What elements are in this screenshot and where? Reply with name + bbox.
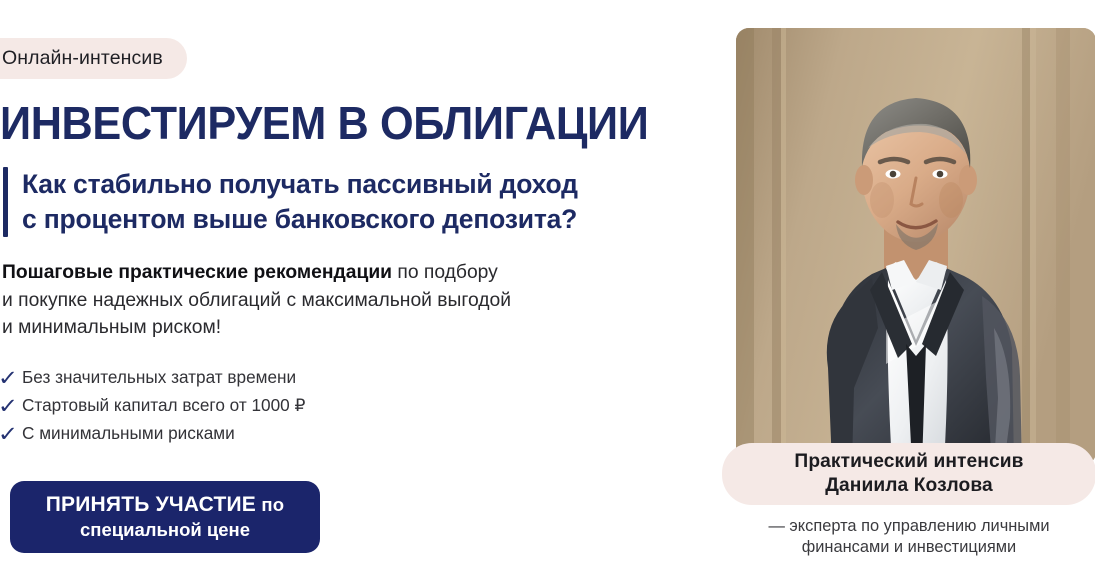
cta-primary-line: ПРИНЯТЬ УЧАСТИЕ по [46,492,284,518]
check-icon: ✓ [0,424,24,445]
benefit-label: Стартовый капитал всего от 1000 ₽ [22,395,305,416]
description-paragraph: Пошаговые практические рекомендации по п… [2,259,511,342]
check-icon: ✓ [0,396,24,417]
benefit-label: Без значительных затрат времени [22,367,296,388]
cta-lower-text: по [256,494,284,515]
hero-right-column: Практический интенсив Даниила Козлова — … [718,0,1095,574]
cta-secondary-line: специальной цене [80,518,250,542]
join-special-price-button[interactable]: ПРИНЯТЬ УЧАСТИЕ по специальной цене [10,481,320,553]
landing-page-hero: Онлайн-интенсив ИНВЕСТИРУЕМ В ОБЛИГАЦИИ … [0,0,1095,574]
speaker-expertise-note: — эксперта по управлению личными финанса… [722,516,1095,558]
caption-line-2: Даниила Козлова [825,474,993,498]
description-rest-line-1: по подбору [392,262,498,283]
caption-line-1: Практический интенсив [794,450,1023,474]
speaker-caption-card: Практический интенсив Даниила Козлова [722,443,1095,505]
list-item: ✓ Стартовый капитал всего от 1000 ₽ [0,394,305,417]
speaker-photo [736,28,1095,465]
expertise-line-2: финансами и инвестициями [722,537,1095,558]
page-title: ИНВЕСТИРУЕМ В ОБЛИГАЦИИ [0,97,648,149]
description-line-3: и минимальным риском! [2,317,221,338]
expertise-line-1: — эксперта по управлению личными [722,516,1095,537]
check-icon: ✓ [0,368,24,389]
badge-label: Онлайн-интенсив [2,47,163,70]
benefits-list: ✓ Без значительных затрат времени ✓ Стар… [0,366,305,450]
cta-upper-text: ПРИНЯТЬ УЧАСТИЕ [46,493,256,516]
description-bold-lead: Пошаговые практические рекомендации [2,262,392,283]
list-item: ✓ Без значительных затрат времени [0,366,305,389]
benefit-label: С минимальными рисками [22,423,235,444]
subheadline-line-1: Как стабильно получать пассивный доход [22,167,578,202]
speaker-photo-illustration [736,28,1095,465]
accent-bar-decoration [3,167,8,237]
subheadline-block: Как стабильно получать пассивный доход с… [3,167,578,237]
hero-left-column: Онлайн-интенсив ИНВЕСТИРУЕМ В ОБЛИГАЦИИ … [0,0,720,574]
subheadline-line-2: с процентом выше банковского депозита? [22,202,578,237]
course-format-badge: Онлайн-интенсив [0,38,187,79]
description-line-2: и покупке надежных облигаций с максималь… [2,290,511,311]
subheadline-text: Как стабильно получать пассивный доход с… [22,167,578,237]
list-item: ✓ С минимальными рисками [0,422,305,445]
